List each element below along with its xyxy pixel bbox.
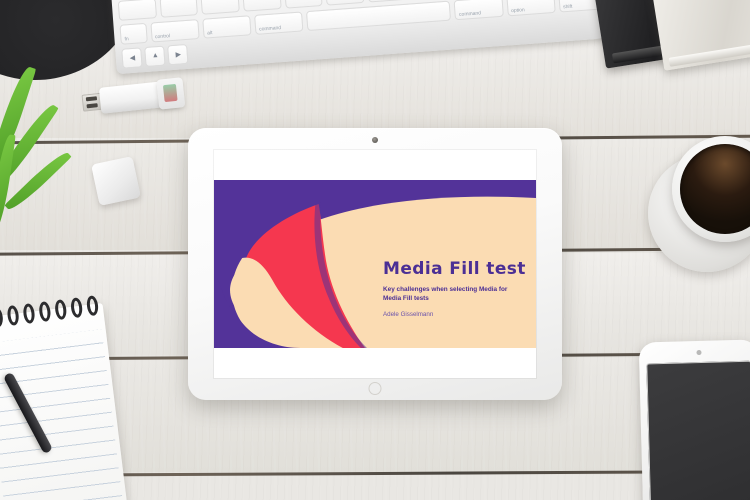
spiral-ring — [38, 301, 51, 322]
phone-screen[interactable] — [646, 361, 750, 500]
key-option[interactable]: option — [506, 0, 556, 16]
spiral-ring — [6, 305, 19, 326]
key-command-right[interactable]: command — [454, 0, 504, 20]
tablet-home-button[interactable] — [369, 382, 382, 395]
key-arrow-up[interactable]: ▲ — [144, 46, 165, 67]
smartphone[interactable] — [639, 339, 750, 500]
key-blank[interactable] — [284, 0, 323, 9]
desk-scene: N M , . / return fn control alt command … — [0, 0, 750, 500]
key-control[interactable]: control — [150, 19, 200, 42]
spiral-ring — [70, 297, 83, 318]
coffee-liquid — [680, 144, 750, 234]
spiral-ring — [54, 299, 67, 320]
key-blank[interactable] — [118, 0, 157, 21]
key-alt[interactable]: alt — [202, 15, 252, 38]
key-blank[interactable] — [159, 0, 198, 18]
key-arrow-right[interactable]: ▶ — [167, 44, 188, 65]
plant-leaf — [0, 134, 16, 233]
slide-text-block: Media Fill test Key challenges when sele… — [383, 261, 521, 319]
slide-title: Media Fill test — [383, 261, 521, 278]
key-fn[interactable]: fn — [119, 23, 147, 45]
spiral-ring — [22, 303, 35, 324]
key-blank[interactable] — [242, 0, 281, 12]
slide-subtitle: Key challenges when selecting Media for … — [383, 285, 521, 304]
tablet-camera-icon — [372, 137, 378, 143]
key-n[interactable]: N — [325, 0, 364, 6]
usb-chip — [163, 84, 178, 102]
key-command-left[interactable]: command — [254, 11, 304, 34]
key-m[interactable]: M — [367, 0, 406, 3]
key-blank[interactable] — [201, 0, 240, 15]
phone-camera-icon — [696, 350, 701, 355]
spiral-ring — [86, 295, 99, 316]
spiral-ring — [0, 307, 4, 328]
tablet-screen[interactable]: Media Fill test Key challenges when sele… — [214, 150, 536, 378]
presentation-slide[interactable]: Media Fill test Key challenges when sele… — [214, 180, 536, 348]
key-arrow-left[interactable]: ◀ — [121, 47, 142, 68]
tablet-device[interactable]: Media Fill test Key challenges when sele… — [188, 128, 562, 400]
potted-plant — [0, 56, 104, 241]
eraser-cube[interactable] — [91, 156, 141, 206]
notepad-ruled-lines — [0, 329, 124, 500]
slide-author: Adele Gisselmann — [383, 311, 521, 318]
